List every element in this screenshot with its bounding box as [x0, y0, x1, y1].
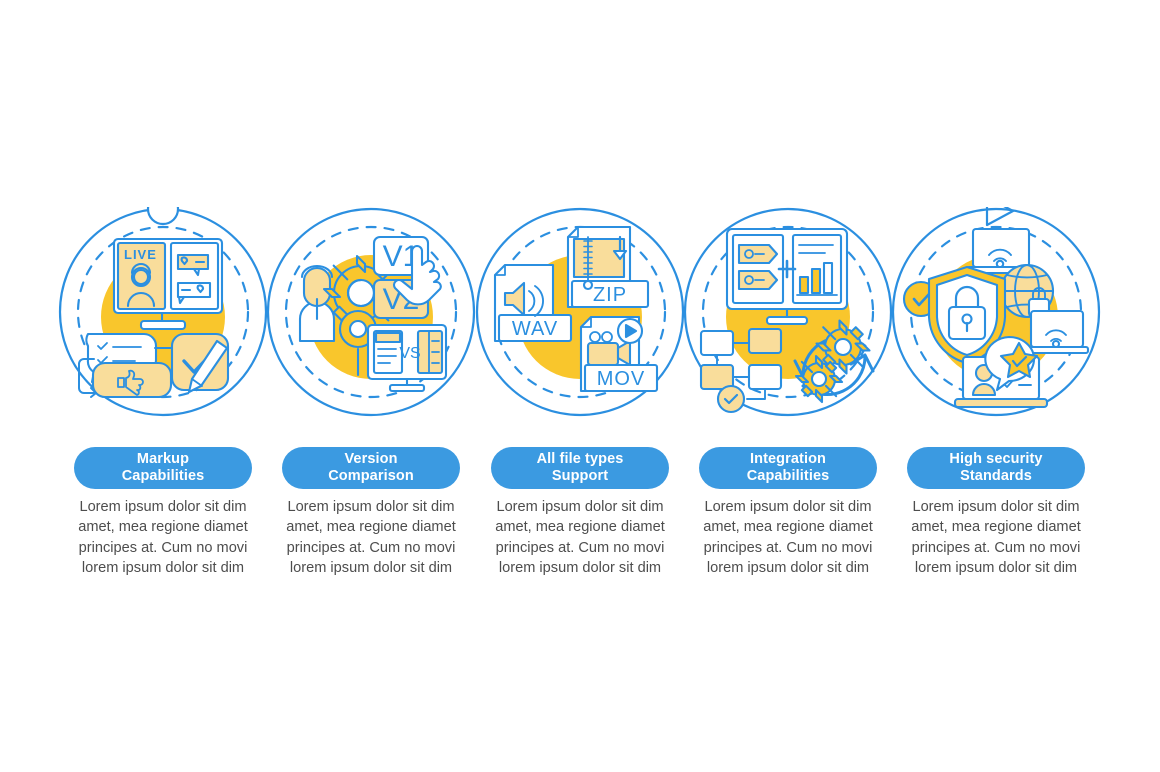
step-description-version-comparison: Lorem ipsum dolor sit dim amet, mea regi…	[271, 497, 471, 579]
step-title-pill-high-security-standards[interactable]: High securityStandards	[907, 447, 1085, 489]
step-description-markup-capabilities: Lorem ipsum dolor sit dim amet, mea regi…	[63, 497, 263, 579]
icon-label-wav: WAV	[512, 318, 558, 340]
step-title-line: Capabilities	[122, 468, 205, 485]
step-title-pill-markup-capabilities[interactable]: MarkupCapabilities	[74, 447, 252, 489]
node-illustration-layer: LIVE	[58, 207, 268, 417]
step-title-line: Markup	[137, 451, 189, 468]
step-description-integration-capabilities: Lorem ipsum dolor sit dim amet, mea regi…	[688, 497, 888, 579]
icon-label-vs: VS	[399, 345, 420, 362]
infographic-canvas: LIVEMarkupCapabilitiesLorem ipsum dolor …	[0, 0, 1160, 772]
icon-label-mov: MOV	[597, 368, 646, 390]
step-title-pill-all-file-types-support[interactable]: All file typesSupport	[491, 447, 669, 489]
file-types-icon: ZIPWAVMOV	[475, 207, 685, 417]
step-node-markup-capabilities: LIVE	[58, 207, 268, 417]
node-illustration-layer	[891, 207, 1101, 417]
version-comparison-icon: V1V2VS	[266, 207, 476, 417]
step-node-integration-capabilities	[683, 207, 893, 417]
step-title-line: Comparison	[328, 468, 414, 485]
step-title-line: Support	[552, 468, 608, 485]
step-title-pill-integration-capabilities[interactable]: IntegrationCapabilities	[699, 447, 877, 489]
icon-label-zip: ZIP	[593, 284, 627, 306]
step-title-line: Integration	[750, 451, 826, 468]
step-node-version-comparison: V1V2VS	[266, 207, 476, 417]
live-review-markup-icon: LIVE	[58, 207, 268, 417]
step-node-all-file-types-support: ZIPWAVMOV	[475, 207, 685, 417]
step-description-high-security-standards: Lorem ipsum dolor sit dim amet, mea regi…	[896, 497, 1096, 579]
node-illustration-layer: V1V2VS	[266, 207, 476, 417]
security-shield-icon	[891, 207, 1101, 417]
step-title-line: Version	[344, 451, 397, 468]
step-title-line: High security	[949, 451, 1042, 468]
integration-workflow-icon	[683, 207, 893, 417]
step-title-line: Capabilities	[747, 468, 830, 485]
step-title-pill-version-comparison[interactable]: VersionComparison	[282, 447, 460, 489]
step-title-line: Standards	[960, 468, 1032, 485]
step-node-high-security-standards	[891, 207, 1101, 417]
step-description-all-file-types-support: Lorem ipsum dolor sit dim amet, mea regi…	[480, 497, 680, 579]
step-title-line: All file types	[537, 451, 624, 468]
icon-label-live: LIVE	[124, 247, 157, 262]
node-illustration-layer	[683, 207, 893, 417]
node-illustration-layer: ZIPWAVMOV	[475, 207, 685, 417]
